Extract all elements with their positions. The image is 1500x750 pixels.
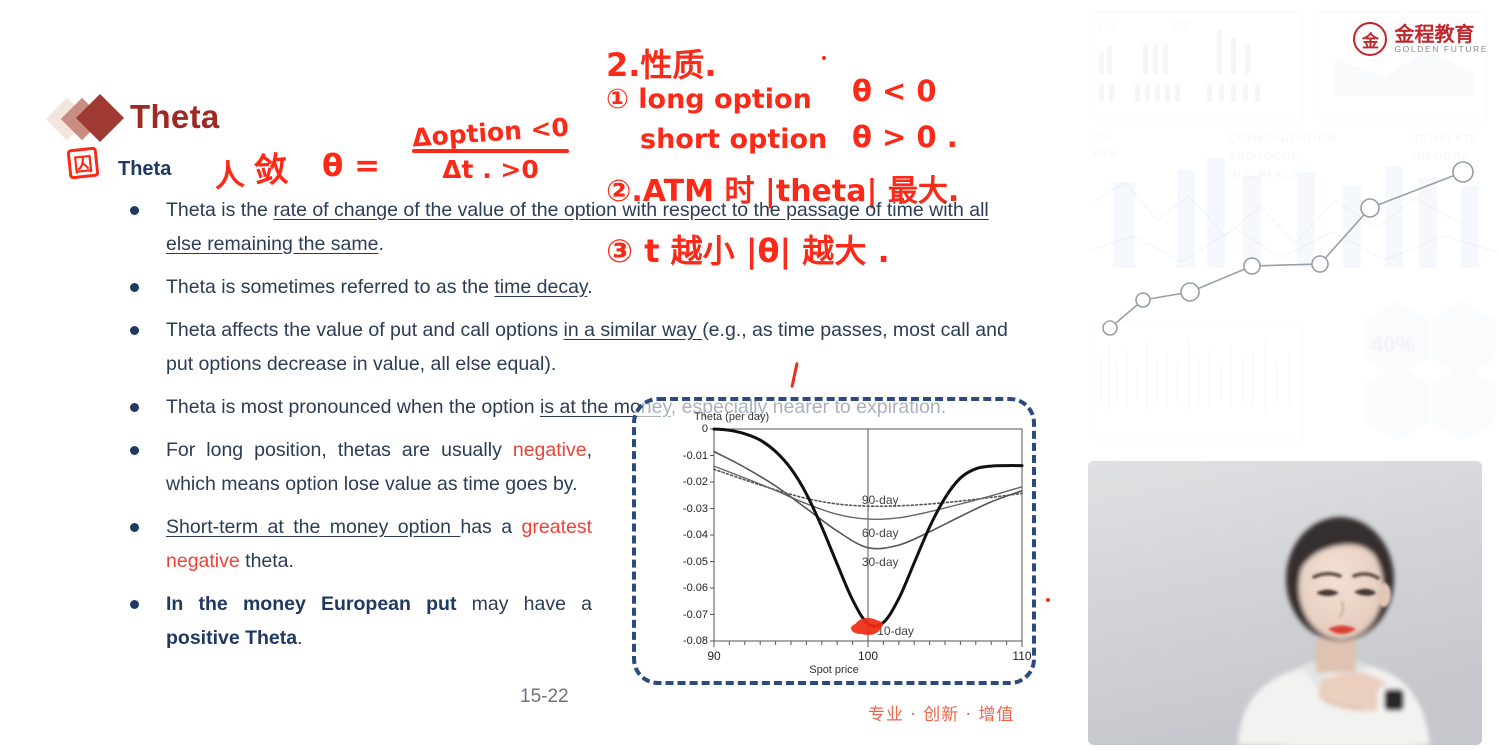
webcam-frame	[1088, 461, 1482, 745]
svg-text:HTS: HTS	[1093, 147, 1118, 159]
page-number: 15-22	[520, 686, 569, 708]
webcam-video-feed[interactable]	[1088, 461, 1482, 745]
theta-chart: Theta (per day) Spot price 0-0.01-0.02-0…	[632, 397, 1036, 685]
annotation-fraction-denominator: Δt . >0	[412, 155, 569, 184]
svg-text:PROTOCOL: PROTOCOL	[1229, 151, 1299, 163]
annotation-fraction: Δoption <0 Δt . >0	[412, 118, 569, 184]
bullet-text-run: in a similar way	[563, 319, 702, 341]
chart-y-tick: 0	[668, 423, 708, 435]
slide-canvas: Theta 囚 Theta 人 敛 θ = Δoption <0 Δt . >0…	[0, 0, 1085, 750]
chart-y-tick: -0.04	[668, 529, 708, 541]
bullet-text-run: .	[587, 276, 592, 298]
annotation-line-2b: θ < 0	[852, 74, 937, 108]
bullet-text-run: For long position, thetas are usually	[166, 439, 513, 461]
diamond-decoration-icon	[52, 96, 124, 142]
chart-series-label-10-day: 10-day	[877, 624, 914, 638]
chart-y-tick: -0.01	[668, 450, 708, 462]
chart-x-axis-label: Spot price	[636, 664, 1032, 676]
bullet-text-run: Short-term at the money option	[166, 516, 460, 538]
svg-text:CS: CS	[1093, 131, 1110, 143]
annotation-box-marker: 囚	[67, 147, 100, 180]
annotation-fraction-numerator: Δoption <0	[411, 113, 570, 153]
bullet-text-run: negative	[513, 439, 587, 461]
chart-x-tick: 110	[1012, 649, 1031, 663]
bullet-european-put: In the money European put may have a pos…	[122, 587, 592, 655]
annotation-dot-2	[1046, 598, 1050, 602]
chart-series-label-90-day: 90-day	[862, 493, 899, 507]
annotation-chart-minimum-marker	[855, 618, 881, 635]
annotation-ren: 人	[212, 149, 246, 195]
bullet-text-run: In the money European put	[166, 593, 456, 615]
bullet-put-call: Theta affects the value of put and call …	[122, 313, 1022, 381]
bullet-text-run: Theta is the	[166, 199, 273, 221]
svg-text:40%: 40%	[1371, 332, 1415, 357]
annotation-line-1: 2.性质.	[606, 40, 717, 86]
bullet-time-decay: Theta is sometimes referred to as the ti…	[122, 270, 1022, 304]
chart-y-tick: -0.08	[668, 635, 708, 647]
bullet-text-run: .	[297, 627, 302, 649]
logo-seal-icon: 金	[1353, 22, 1387, 56]
bullet-text-run: Theta is sometimes referred to as the	[166, 276, 494, 298]
bullet-text-run: positive Theta	[166, 627, 297, 649]
bullet-text-run: .	[378, 233, 383, 255]
slide-tagline: 专业 · 创新 · 增值	[868, 700, 1014, 725]
annotation-line-3a: short option	[640, 124, 827, 155]
page-title: Theta	[130, 98, 220, 136]
presentation-screen: Theta 囚 Theta 人 敛 θ = Δoption <0 Δt . >0…	[0, 0, 1500, 750]
right-panel: CSHTS COMMUNICATIONPROTOCOLINTERFACE TEM…	[1085, 0, 1500, 750]
svg-text:INFOGRA: INFOGRA	[1413, 151, 1470, 163]
chart-y-axis-label: Theta (per day)	[694, 411, 769, 423]
annotation-line-3b: θ > 0 .	[852, 120, 958, 154]
bullet-text-run: rate of change of the value of the optio…	[166, 199, 989, 255]
logo-text: 金程教育 GOLDEN FUTURE	[1394, 24, 1488, 55]
bullet-text-run: time decay	[494, 276, 587, 298]
brand-logo: 金 金程教育 GOLDEN FUTURE	[1353, 22, 1488, 56]
chart-inner: Theta (per day) Spot price 0-0.01-0.02-0…	[636, 401, 1032, 681]
chart-y-tick: -0.05	[668, 556, 708, 568]
bullet-text-run: theta.	[240, 550, 294, 572]
annotation-dot-1	[822, 56, 826, 60]
svg-text:COMMUNICATION: COMMUNICATION	[1229, 133, 1337, 145]
bullet-definition: Theta is the rate of change of the value…	[122, 193, 1022, 261]
chart-x-tick: 100	[858, 649, 878, 663]
decorative-infographic-background: CSHTS COMMUNICATIONPROTOCOLINTERFACE TEM…	[1085, 0, 1500, 455]
annotation-shu: 敛	[252, 142, 289, 193]
svg-text:TEMPLATE: TEMPLATE	[1413, 133, 1478, 145]
bullet-text-run: Theta is most pronounced when the option	[166, 396, 540, 418]
chart-y-tick: -0.02	[668, 476, 708, 488]
svg-text:INTERFACE: INTERFACE	[1229, 169, 1300, 181]
chart-y-tick: -0.03	[668, 503, 708, 515]
bullet-text-run: Theta affects the value of put and call …	[166, 319, 563, 341]
bullet-short-term: Short-term at the money option has a gre…	[122, 510, 592, 578]
svg-text:CS: CS	[1173, 21, 1190, 33]
svg-text:CS: CS	[1099, 21, 1116, 33]
chart-series-label-60-day: 60-day	[862, 526, 899, 540]
logo-name-en: GOLDEN FUTURE	[1394, 44, 1488, 55]
annotation-line-2a: ① long option	[606, 84, 812, 115]
logo-name-cn: 金程教育	[1394, 24, 1488, 44]
chart-y-tick: -0.07	[668, 609, 708, 621]
chart-x-tick: 90	[707, 649, 720, 663]
slide-subheading: Theta	[118, 158, 171, 181]
chart-y-tick: -0.06	[668, 582, 708, 594]
annotation-theta-equals: θ =	[322, 148, 380, 184]
chart-series-label-30-day: 30-day	[862, 555, 899, 569]
bullet-text-run: may have a	[456, 593, 592, 615]
bullet-text-run: has a	[460, 516, 521, 538]
bullet-long-position: For long position, thetas are usually ne…	[122, 433, 592, 501]
